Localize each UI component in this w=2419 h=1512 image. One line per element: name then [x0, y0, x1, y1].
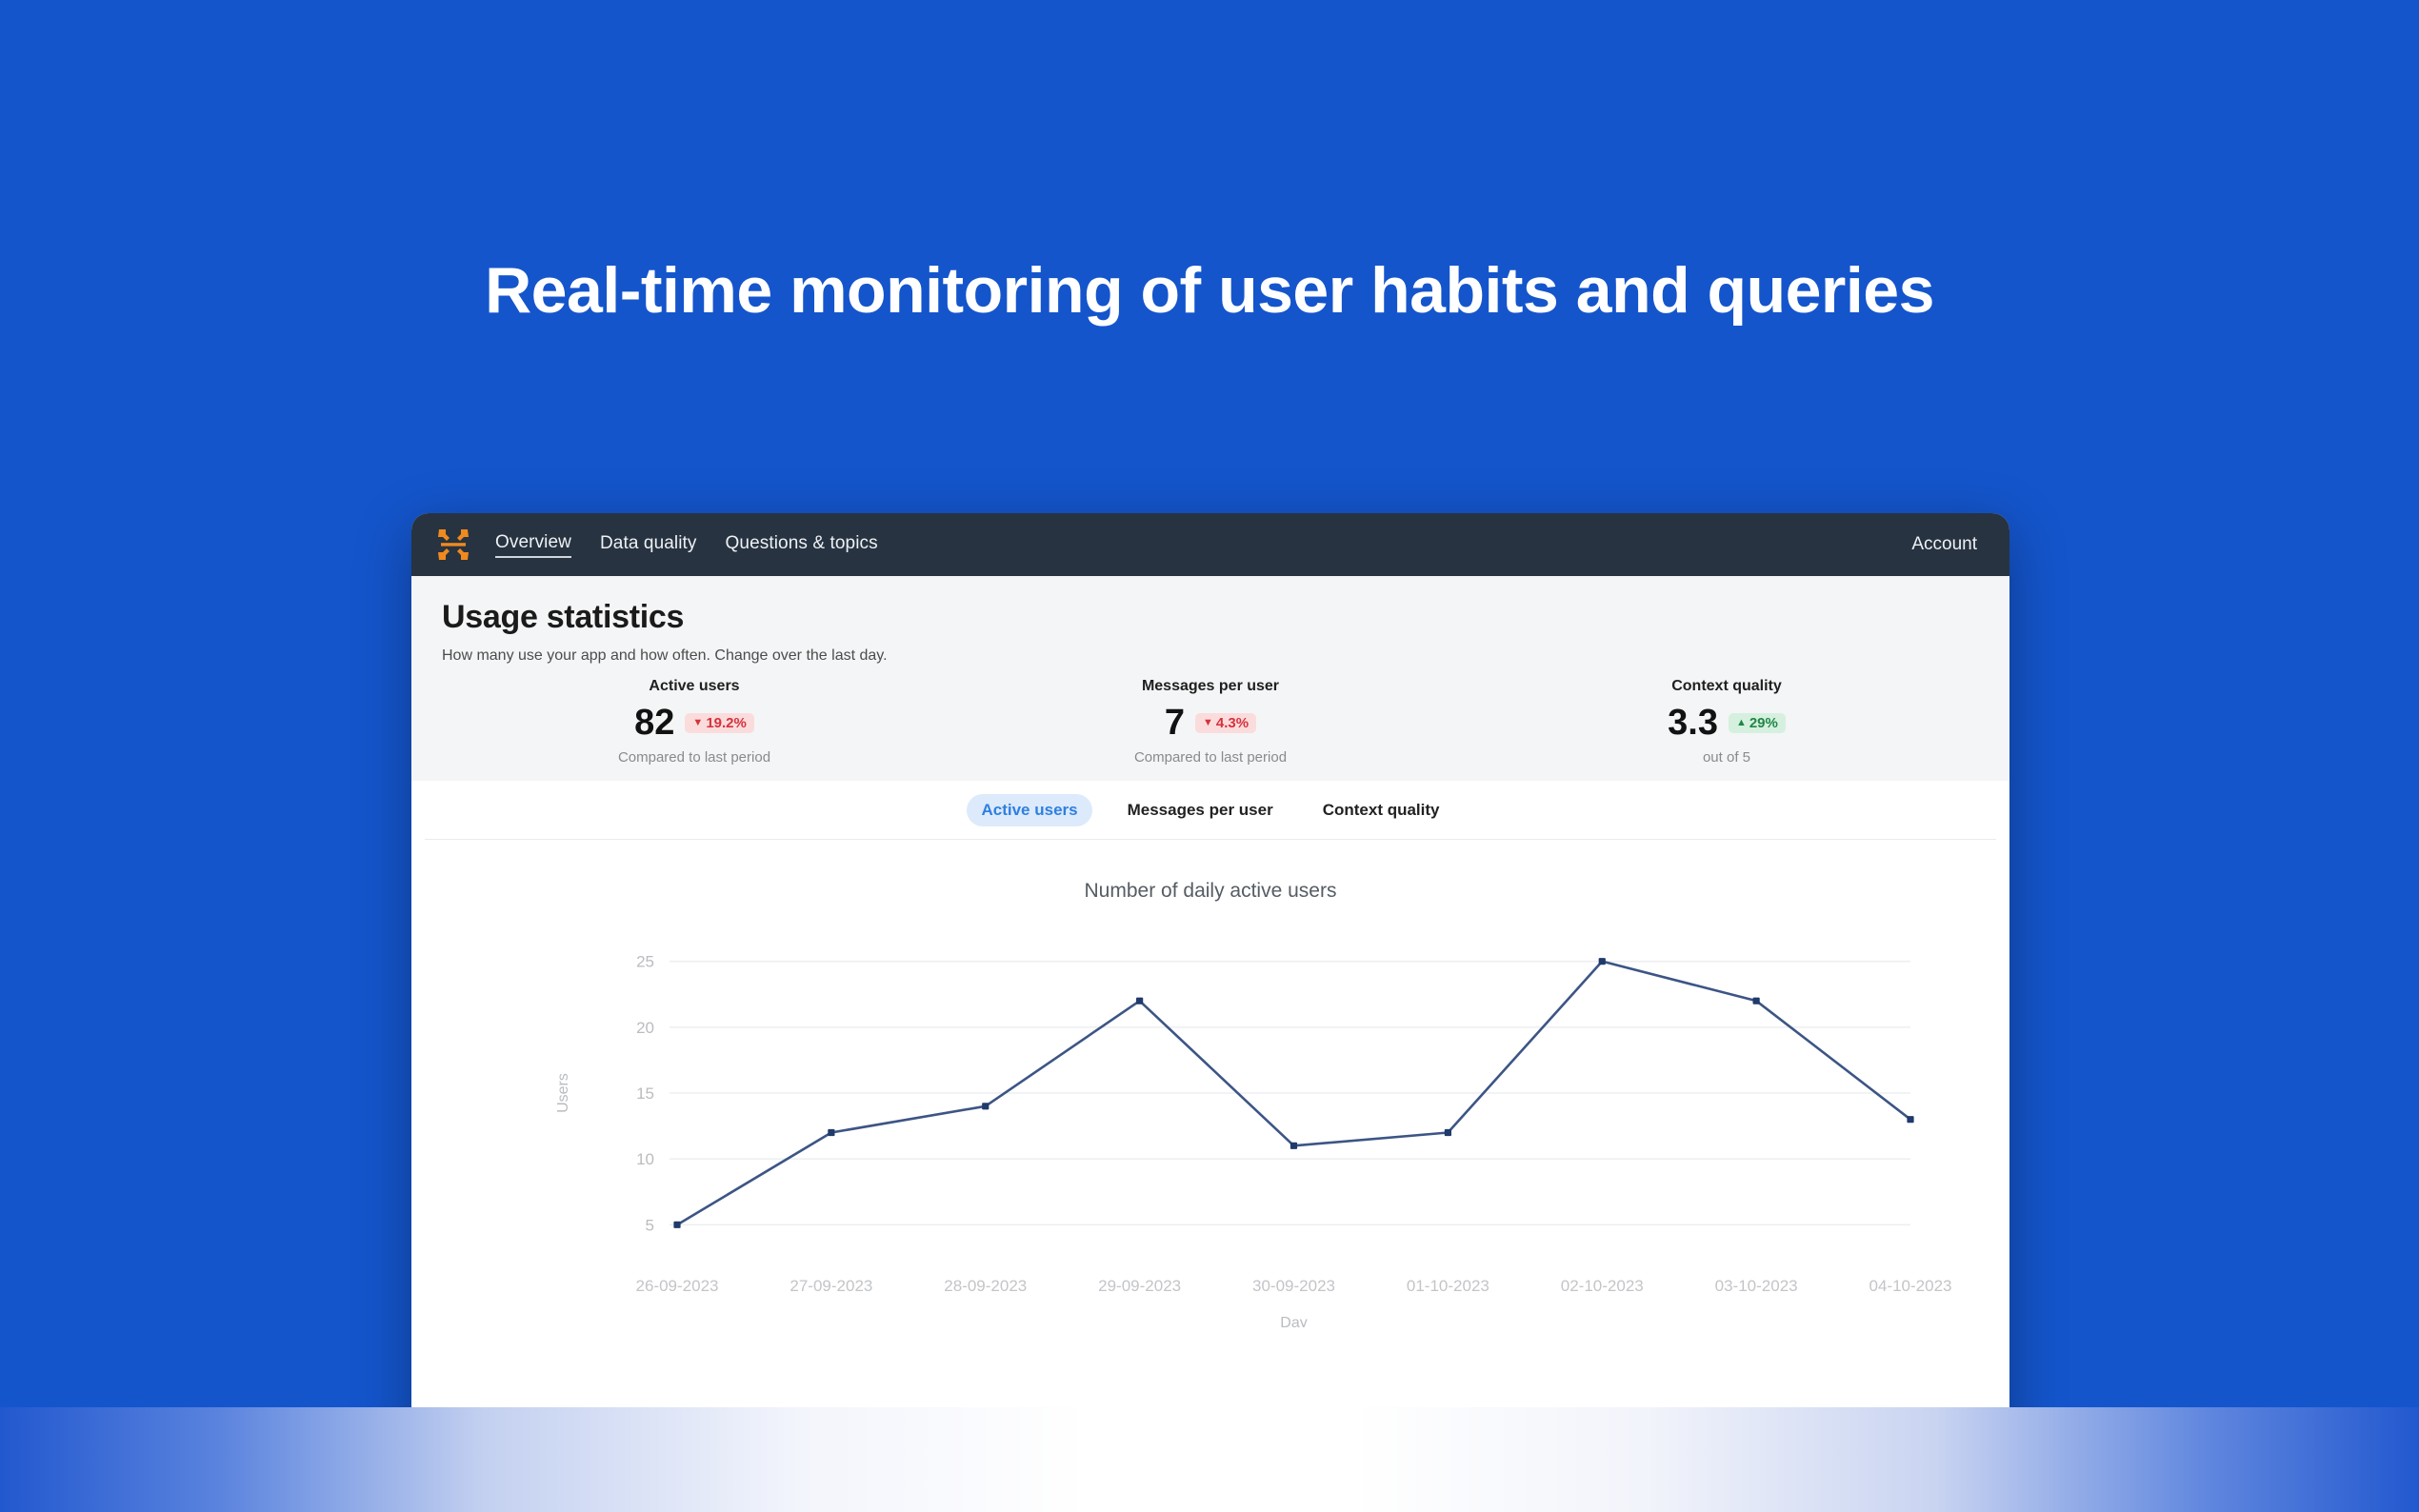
- tab-active-users[interactable]: Active users: [967, 794, 1091, 826]
- chart-y-tick: 5: [646, 1216, 654, 1234]
- chart-data-point[interactable]: [1753, 998, 1760, 1005]
- chart-title: Number of daily active users: [425, 880, 1996, 903]
- kpi-delta-badge: ▲ 29%: [1729, 713, 1786, 733]
- chart-x-tick: 01-10-2023: [1407, 1277, 1489, 1295]
- kpi-delta-badge: ▼ 19.2%: [685, 713, 753, 733]
- chart-data-point[interactable]: [1445, 1129, 1451, 1136]
- chart-x-tick: 30-09-2023: [1252, 1277, 1335, 1295]
- kpi-card-context-quality: Context quality 3.3 ▲ 29% out of 5: [1469, 678, 1985, 766]
- chart-y-axis-label: Users: [555, 1073, 571, 1113]
- tab-messages-per-user[interactable]: Messages per user: [1113, 794, 1288, 826]
- chart-x-axis-label: Day: [1280, 1315, 1307, 1327]
- chart-y-tick: 10: [636, 1150, 654, 1168]
- chart-data-point[interactable]: [982, 1103, 989, 1109]
- kpi-footnote: out of 5: [1469, 749, 1985, 766]
- nav-link-data-quality[interactable]: Data quality: [600, 533, 697, 557]
- chart-x-tick-labels: 26-09-202327-09-202328-09-202329-09-2023…: [636, 1277, 1952, 1295]
- chart-x-tick: 28-09-2023: [944, 1277, 1027, 1295]
- kpi-footnote: Compared to last period: [436, 749, 952, 766]
- page-headline: Real-time monitoring of user habits and …: [0, 255, 2419, 327]
- kpi-delta-value: 29%: [1749, 716, 1778, 730]
- usage-statistics-header: Usage statistics How many use your app a…: [411, 576, 2009, 781]
- chart-data-point[interactable]: [828, 1129, 834, 1136]
- chart-x-tick: 27-09-2023: [790, 1277, 872, 1295]
- four-arrows-converge-icon[interactable]: [434, 526, 472, 564]
- page-root: Real-time monitoring of user habits and …: [0, 0, 2419, 1512]
- kpi-delta-value: 4.3%: [1216, 716, 1249, 730]
- chart-x-tick: 29-09-2023: [1098, 1277, 1181, 1295]
- chart-plot-area: 510152025 26-09-202327-09-202328-09-2023…: [425, 918, 1996, 1327]
- triangle-down-icon: ▼: [692, 718, 703, 728]
- triangle-up-icon: ▲: [1736, 718, 1747, 728]
- chart-data-point[interactable]: [1290, 1143, 1297, 1149]
- chart-y-tick: 25: [636, 953, 654, 971]
- app-top-navigation: Overview Data quality Questions & topics…: [411, 513, 2009, 576]
- chart-x-tick: 03-10-2023: [1715, 1277, 1798, 1295]
- line-chart-svg: 510152025 26-09-202327-09-202328-09-2023…: [425, 918, 1996, 1327]
- chart-y-tick: 15: [636, 1084, 654, 1103]
- triangle-down-icon: ▼: [1203, 718, 1213, 728]
- nav-link-overview[interactable]: Overview: [495, 532, 571, 558]
- nav-links: Overview Data quality Questions & topics: [495, 532, 878, 558]
- chart-card: Active users Messages per user Context q…: [425, 781, 1996, 1467]
- nav-link-questions-topics[interactable]: Questions & topics: [726, 533, 878, 557]
- chart-y-tick: 20: [636, 1019, 654, 1037]
- chart-x-tick: 02-10-2023: [1561, 1277, 1644, 1295]
- kpi-footnote: Compared to last period: [952, 749, 1469, 766]
- kpi-value-row: 3.3 ▲ 29%: [1469, 701, 1985, 745]
- chart-data-point[interactable]: [1599, 958, 1606, 965]
- kpi-label: Context quality: [1469, 678, 1985, 695]
- kpi-value-row: 82 ▼ 19.2%: [436, 701, 952, 745]
- account-link[interactable]: Account: [1911, 534, 1977, 555]
- chart-gridlines: [670, 962, 1910, 1225]
- chart-tab-bar: Active users Messages per user Context q…: [425, 781, 1996, 840]
- chart-x-tick: 04-10-2023: [1869, 1277, 1952, 1295]
- kpi-card-active-users: Active users 82 ▼ 19.2% Compared to last…: [436, 678, 952, 766]
- kpi-value: 82: [634, 705, 674, 741]
- kpi-label: Messages per user: [952, 678, 1469, 695]
- page-title: Usage statistics: [442, 599, 2009, 636]
- kpi-value-row: 7 ▼ 4.3%: [952, 701, 1469, 745]
- app-window-screenshot: Overview Data quality Questions & topics…: [411, 513, 2009, 1467]
- kpi-card-messages-per-user: Messages per user 7 ▼ 4.3% Compared to l…: [952, 678, 1469, 766]
- chart-data-point[interactable]: [1136, 998, 1143, 1005]
- chart-data-point[interactable]: [673, 1222, 680, 1228]
- kpi-label: Active users: [436, 678, 952, 695]
- chart-x-tick: 26-09-2023: [636, 1277, 719, 1295]
- kpi-value: 3.3: [1668, 705, 1718, 741]
- chart-data-point[interactable]: [1907, 1116, 1913, 1123]
- kpi-delta-value: 19.2%: [706, 716, 747, 730]
- bottom-gradient-strip: [0, 1407, 2419, 1512]
- tab-context-quality[interactable]: Context quality: [1309, 794, 1454, 826]
- kpi-row: Active users 82 ▼ 19.2% Compared to last…: [411, 678, 2009, 781]
- kpi-value: 7: [1165, 705, 1185, 741]
- page-subtitle: How many use your app and how often. Cha…: [442, 647, 2009, 665]
- chart-y-tick-labels: 510152025: [636, 953, 654, 1235]
- kpi-delta-badge: ▼ 4.3%: [1195, 713, 1256, 733]
